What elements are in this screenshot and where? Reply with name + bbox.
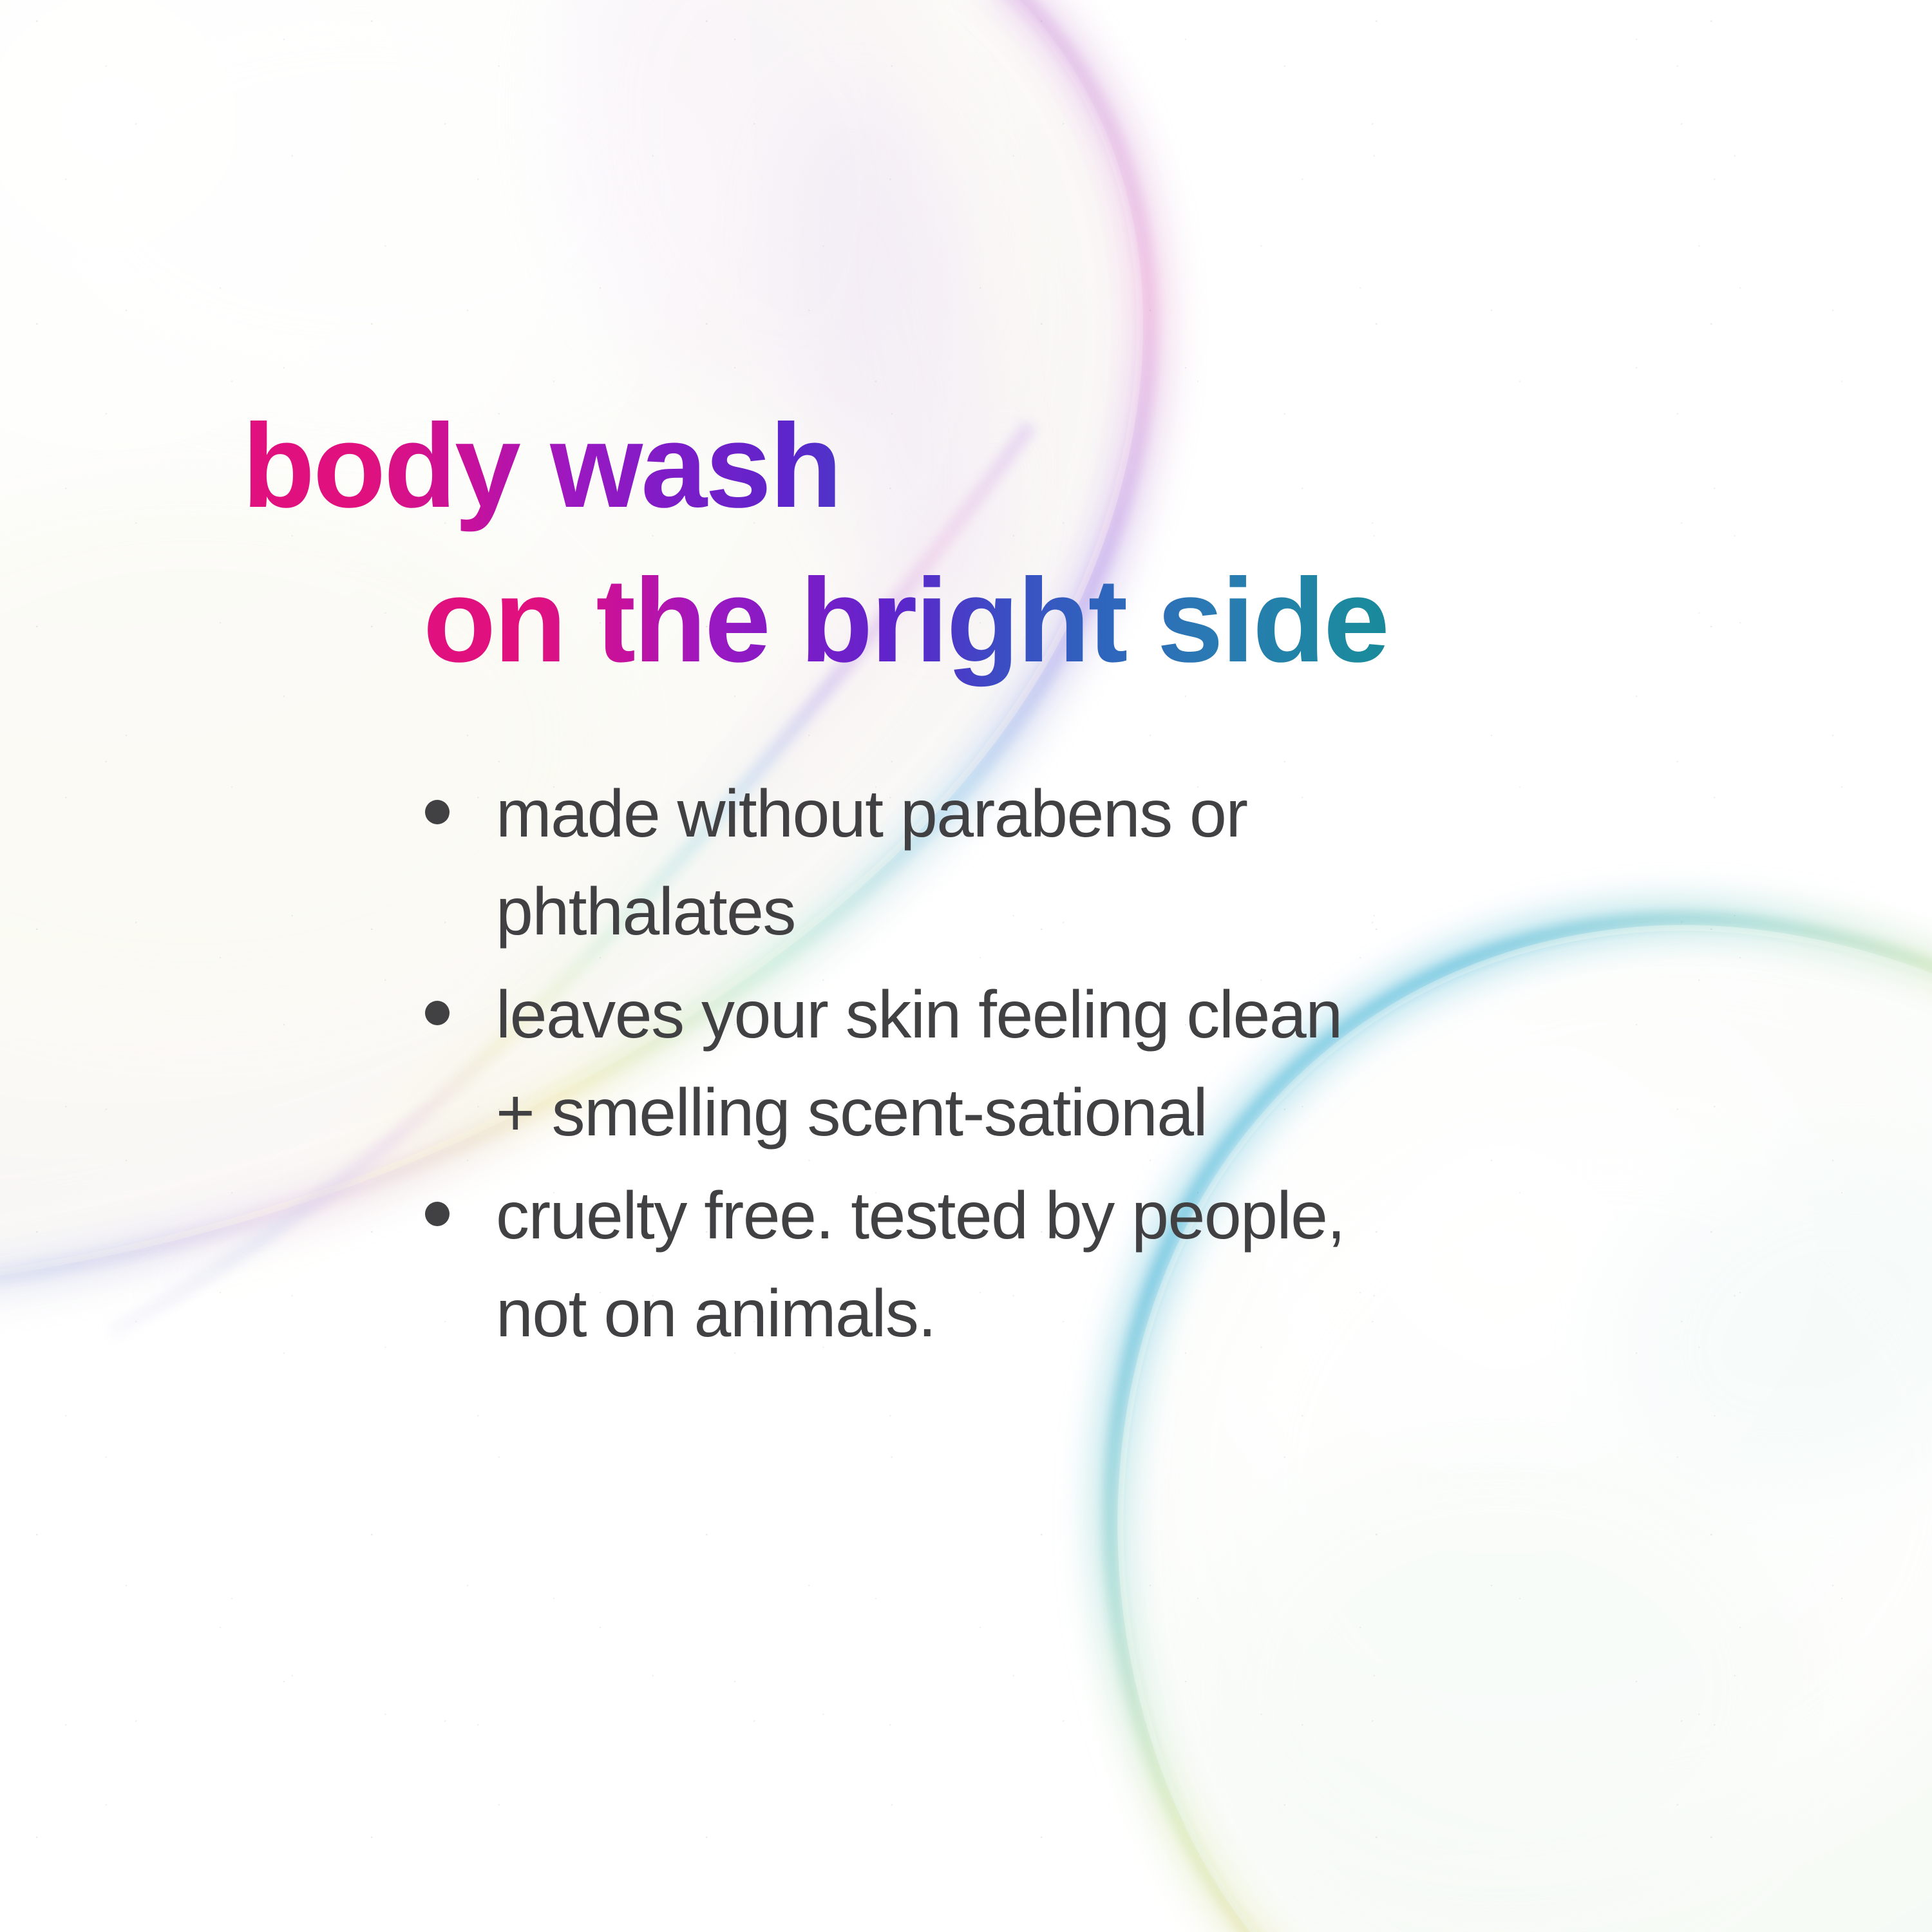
list-item-label: leaves your skin feeling clean + smellin… xyxy=(496,966,1649,1162)
list-item: cruelty free. tested by people, not on a… xyxy=(425,1167,1649,1363)
bullet-disc-icon xyxy=(425,1001,450,1025)
poster-canvas: body wash on the bright side made withou… xyxy=(0,0,1932,1932)
benefits-list: made without parabens or phthalates leav… xyxy=(425,765,1649,1368)
list-item-label: cruelty free. tested by people, not on a… xyxy=(496,1167,1649,1363)
list-item: leaves your skin feeling clean + smellin… xyxy=(425,966,1649,1162)
list-item: made without parabens or phthalates xyxy=(425,765,1649,961)
headline-block: body wash on the bright side xyxy=(0,389,1932,698)
bullet-disc-icon xyxy=(425,800,450,824)
bullet-disc-icon xyxy=(425,1202,450,1226)
headline-line-1: body wash xyxy=(0,389,1932,544)
list-item-label: made without parabens or phthalates xyxy=(496,765,1649,961)
poster-content: body wash on the bright side made withou… xyxy=(0,0,1932,1932)
headline-line-2: on the bright side xyxy=(0,544,1932,698)
